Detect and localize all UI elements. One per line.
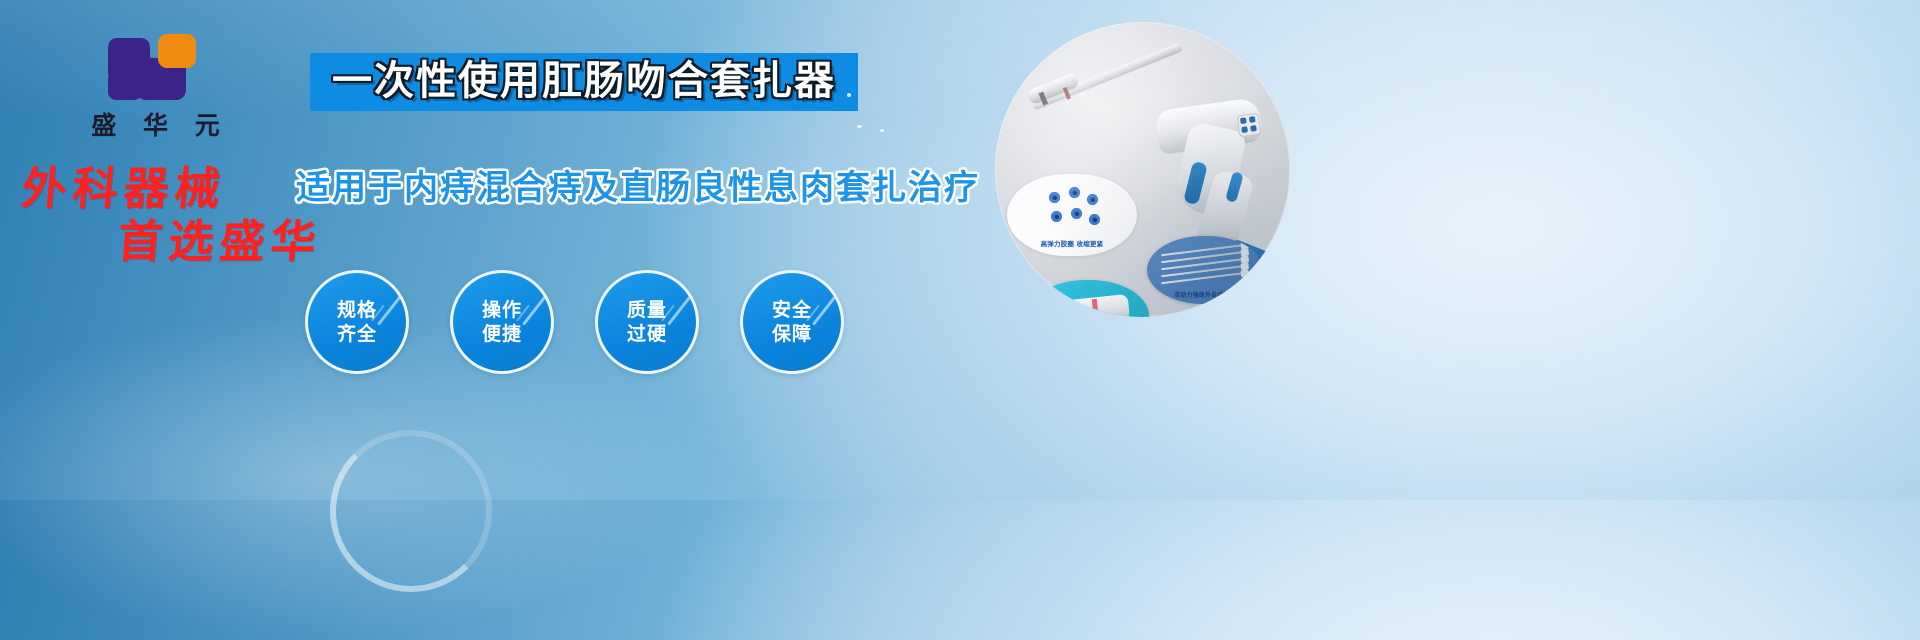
elastic-ring-icon bbox=[1071, 208, 1082, 219]
feature-label-line2: 便捷 bbox=[482, 322, 522, 346]
feature-circle-2[interactable]: 操作 便捷 bbox=[450, 270, 554, 374]
elastic-ring-icon bbox=[1069, 187, 1080, 198]
brand-name: 盛 华 元 bbox=[63, 106, 248, 142]
feature-label-line1: 质量 bbox=[627, 298, 667, 322]
brand-logo: 盛 华 元 bbox=[63, 28, 248, 142]
feature-circle-4[interactable]: 安全 保障 bbox=[740, 270, 844, 374]
sparkle-icon bbox=[880, 129, 884, 132]
feature-label-line2: 齐全 bbox=[337, 322, 377, 346]
feature-circle-3[interactable]: 质量 过硬 bbox=[595, 270, 699, 374]
elastic-ring-icon bbox=[1087, 194, 1098, 205]
inset-rings-panel: 高弹力胶圈 收缩更紧 bbox=[1007, 174, 1137, 256]
calligraphy-line-2: 首选盛华 bbox=[115, 205, 325, 270]
inset-needles-panel: 活动力强体外自动脱落 bbox=[1147, 236, 1263, 304]
feature-circle-1[interactable]: 规格 齐全 bbox=[305, 270, 409, 374]
product-photo: 高弹力胶圈 收缩更紧 活动力强体外自动脱落 bbox=[995, 22, 1290, 317]
elastic-ring-icon bbox=[1049, 192, 1060, 203]
feature-label-line2: 过硬 bbox=[627, 322, 667, 346]
elastic-ring-icon bbox=[1051, 211, 1062, 222]
device-shaft bbox=[1031, 42, 1183, 110]
feature-label-line1: 规格 bbox=[337, 298, 377, 322]
decorative-arc bbox=[330, 430, 492, 592]
title-banner: 一次性使用肛肠吻合套扎器 bbox=[310, 53, 858, 111]
top-light-wash bbox=[0, 0, 1920, 120]
inset-anoscope-panel bbox=[1027, 280, 1149, 317]
feature-label-line1: 安全 bbox=[772, 298, 812, 322]
subtitle: 适用于内痔混合痔及直肠良性息肉套扎治疗 bbox=[296, 160, 980, 209]
page-title: 一次性使用肛肠吻合套扎器 bbox=[332, 60, 836, 102]
anoscope-body bbox=[1048, 294, 1130, 317]
logo-mark-icon bbox=[108, 28, 204, 100]
feature-circle-list: 规格 齐全 操作 便捷 质量 过硬 安全 保障 bbox=[305, 270, 844, 374]
sparkle-icon bbox=[857, 125, 862, 128]
feature-label-line2: 保障 bbox=[772, 322, 812, 346]
sparkle-icon bbox=[847, 93, 851, 97]
device-button-pad bbox=[1237, 113, 1262, 138]
inset-needles-caption: 活动力强体外自动脱落 bbox=[1147, 290, 1263, 299]
feature-label-line1: 操作 bbox=[482, 298, 522, 322]
elastic-ring-icon bbox=[1089, 214, 1100, 225]
needle-icon bbox=[1161, 244, 1247, 256]
inset-rings-caption: 高弹力胶圈 收缩更紧 bbox=[1007, 238, 1137, 248]
